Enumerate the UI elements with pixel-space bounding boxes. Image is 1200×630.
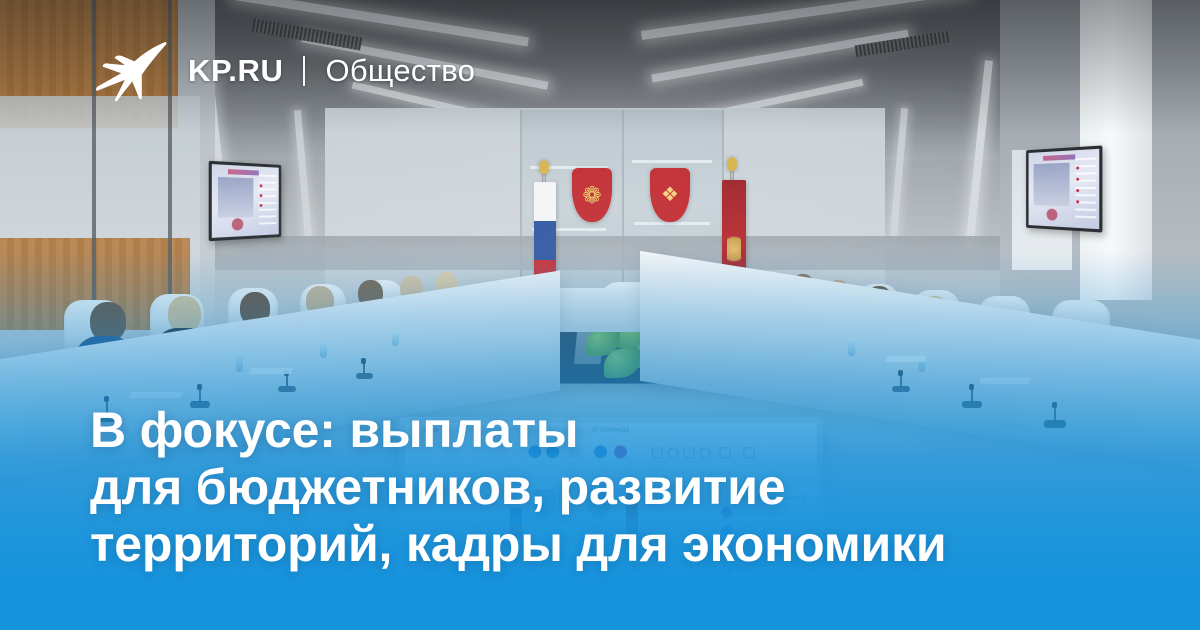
- participant-avatar-5: [722, 585, 733, 596]
- document-r2: [885, 356, 927, 362]
- regional-coat-of-arms-icon: ❖: [650, 168, 690, 222]
- water-bottle-r1: [918, 352, 925, 372]
- laptop-keyboard-base: [358, 598, 864, 610]
- document-l1: [129, 392, 183, 398]
- ceiling-light-4: [651, 29, 908, 82]
- water-bottle-r2: [848, 338, 855, 356]
- display-right-badge: [1047, 209, 1058, 221]
- brand-separator: [303, 56, 305, 86]
- federal-eagle-glyph: ❁: [577, 173, 607, 217]
- display-left-video: [218, 177, 254, 218]
- display-right-video: [1034, 163, 1069, 206]
- federal-coat-of-arms-icon: ❁: [572, 168, 612, 222]
- display-right-header: [1043, 154, 1075, 161]
- display-left-badge: [232, 218, 243, 231]
- wall-display-left: [209, 161, 282, 242]
- document-r1: [979, 378, 1031, 384]
- ceiling-light-2: [641, 0, 969, 40]
- participant-name-5: [737, 588, 781, 593]
- swallow-bird-logo-icon[interactable]: [92, 40, 168, 102]
- water-bottle-l3: [392, 330, 399, 346]
- article-social-card: ❁ ❖: [0, 0, 1200, 630]
- water-bottle-l1: [236, 352, 243, 372]
- display-left-participants: [259, 174, 277, 229]
- glass-reflection-2: [632, 160, 712, 163]
- brand-name[interactable]: KP.RU: [188, 53, 283, 89]
- participant-row-5: [722, 584, 814, 598]
- display-left-header: [228, 169, 259, 175]
- flag-finial-right: [727, 157, 737, 171]
- flag-finial-left: [539, 160, 549, 174]
- document-l2: [249, 368, 293, 374]
- headline-line-2: для бюджетников, развитие: [90, 459, 1150, 516]
- wall-dado-band: [180, 236, 1040, 270]
- rubric-label[interactable]: Общество: [325, 53, 475, 89]
- headline-line-1: В фокусе: выплаты: [90, 402, 1150, 459]
- glass-reflection-4: [634, 222, 710, 225]
- water-bottle-l2: [320, 340, 327, 358]
- regional-lion-glyph: ❖: [655, 173, 685, 217]
- headline-line-3: территорий, кадры для экономики: [90, 516, 1150, 573]
- brand-header: KP.RU Общество: [92, 40, 475, 102]
- headline: В фокусе: выплаты для бюджетников, разви…: [90, 402, 1150, 573]
- wall-display-right: [1026, 145, 1102, 232]
